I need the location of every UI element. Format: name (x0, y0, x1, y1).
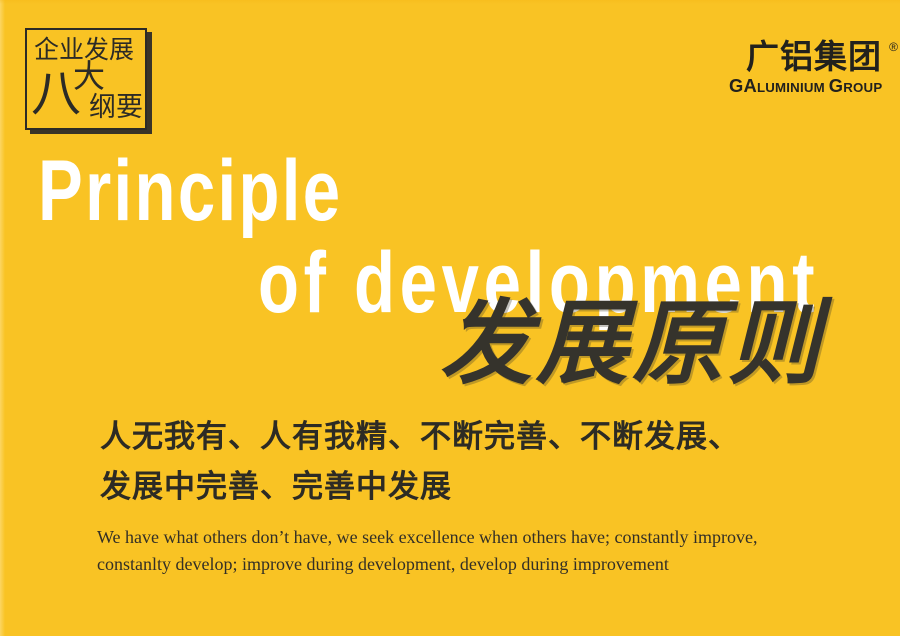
poster-canvas: 企业发展 八 大 纲要 广铝集团 ® GALUMINIUM GROUP Prin… (0, 0, 900, 636)
company-logo-en-roup: ROUP (843, 80, 882, 95)
company-logo-en: GALUMINIUM GROUP (729, 76, 882, 97)
company-logo-cn: 广铝集团 (746, 40, 882, 74)
company-logo-en-g2: G (828, 76, 842, 96)
registered-trademark-icon: ® (889, 40, 898, 54)
company-logo: 广铝集团 ® GALUMINIUM GROUP (732, 40, 882, 97)
left-edge-shading (0, 0, 5, 636)
stamp-box: 企业发展 八 大 纲要 (25, 28, 147, 130)
stamp-mid-char: 大 (73, 58, 105, 94)
company-logo-cn-wrap: 广铝集团 ® (746, 40, 882, 74)
company-logo-en-a: A (743, 76, 756, 96)
slogan-chinese: 人无我有、人有我精、不断完善、不断发展、 发展中完善、完善中发展 (100, 412, 890, 512)
top-edge-shading (0, 0, 900, 4)
company-logo-en-luminium: LUMINIUM (757, 80, 825, 95)
slogan-chinese-line-2: 发展中完善、完善中发展 (100, 462, 890, 512)
slogan-chinese-line-1: 人无我有、人有我精、不断完善、不断发展、 (100, 412, 890, 462)
stamp-small-text: 纲要 (89, 92, 143, 123)
slogan-english-line-2: constanlty develop; improve during devel… (97, 551, 857, 578)
headline-line-1: Principle (38, 148, 342, 234)
slogan-english-line-1: We have what others don’t have, we seek … (97, 524, 857, 551)
company-logo-en-g1: G (729, 76, 743, 96)
headline-chinese: 发展原则 (440, 296, 824, 392)
slogan-english: We have what others don’t have, we seek … (97, 524, 857, 578)
